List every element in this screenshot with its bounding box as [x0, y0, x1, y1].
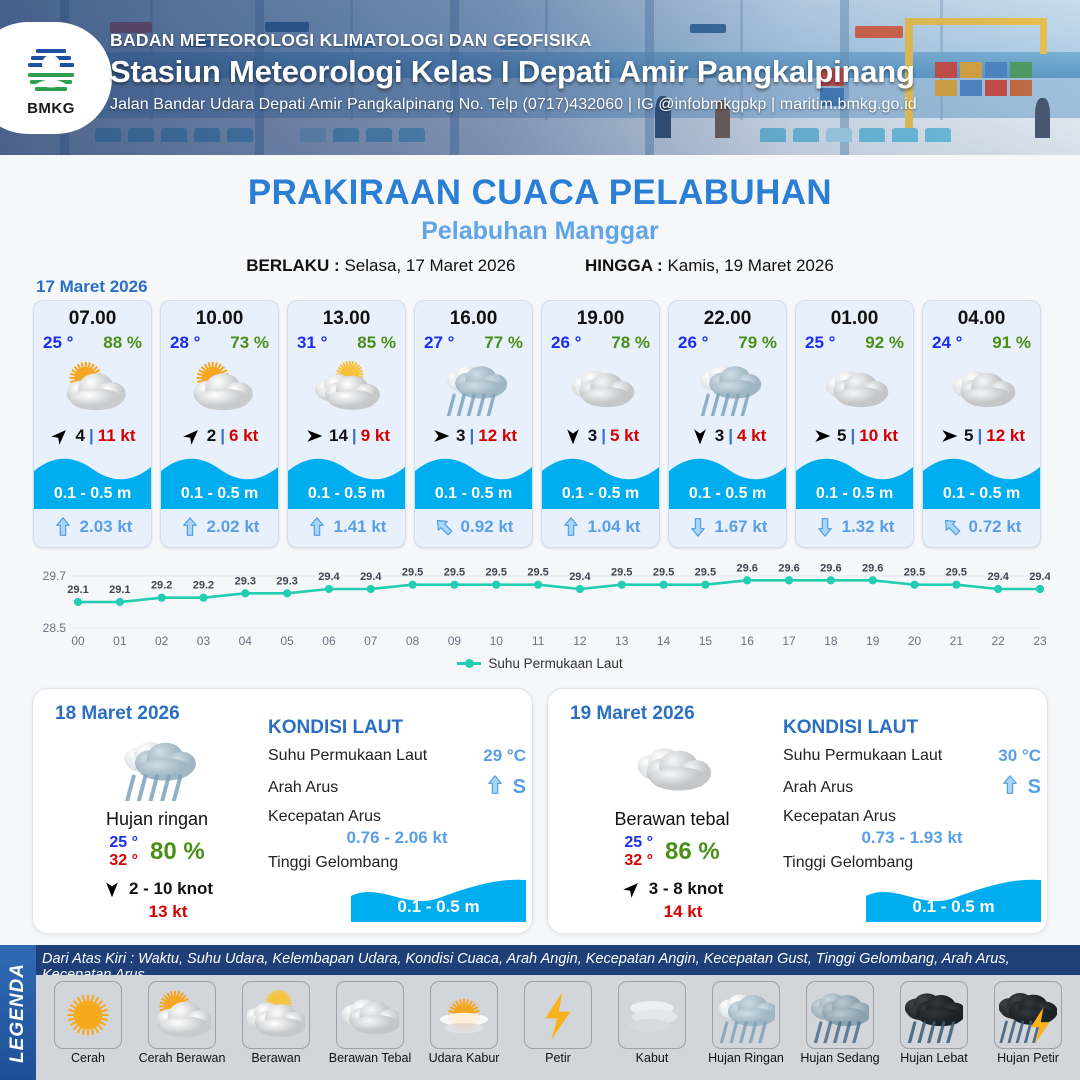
weather-hujan-ringan-icon: [415, 356, 532, 418]
card-time: 01.00: [796, 308, 913, 330]
wind-direction-icon: [811, 426, 833, 446]
svg-text:12: 12: [573, 634, 587, 648]
svg-text:23: 23: [1033, 634, 1047, 648]
wind-speed: 14: [329, 426, 348, 446]
current-direction-icon: [1000, 773, 1020, 802]
card-time: 10.00: [161, 308, 278, 330]
wave-height-band: 0.1 - 0.5 m: [415, 451, 532, 509]
wave-height-value: 0.1 - 0.5 m: [669, 485, 786, 503]
hourly-card: 01.00 25 ° 92 % 5 | 10 kt 0.1 - 0.5 m: [795, 300, 914, 548]
svg-text:29.3: 29.3: [276, 575, 297, 587]
card-current: 2.02 kt: [161, 511, 278, 543]
card-temp-humidity: 31 ° 85 %: [288, 330, 405, 353]
title-block: PRAKIRAAN CUACA PELABUHAN Pelabuhan Mang…: [0, 173, 1080, 276]
card-temperature: 25 °: [805, 333, 835, 353]
legend-item: Kabut: [608, 981, 696, 1065]
current-speed: 2.03 kt: [80, 517, 133, 537]
card-wind: 3 | 5 kt: [542, 424, 659, 448]
current-dir-label: Arah Arus: [783, 779, 853, 797]
svg-text:29.5: 29.5: [486, 567, 507, 579]
wind-separator: |: [977, 426, 982, 446]
wave-height-band: 0.1 - 0.5 m: [34, 451, 151, 509]
card-current: 1.67 kt: [669, 511, 786, 543]
svg-text:29.7: 29.7: [43, 569, 67, 583]
berlaku-value: Selasa, 17 Maret 2026: [344, 256, 515, 275]
hourly-card: 16.00 27 ° 77 % 3 | 12 kt 0.1 - 0.5 m: [414, 300, 533, 548]
svg-text:09: 09: [448, 634, 462, 648]
current-direction-icon: [307, 515, 327, 539]
svg-text:29.4: 29.4: [318, 571, 340, 583]
panel-summary: Berawan tebal 25 ° 32 ° 86 % 3 - 8 knot …: [562, 731, 782, 922]
wave-height-value: 0.1 - 0.5 m: [796, 485, 913, 503]
station-name: Stasiun Meteorologi Kelas I Depati Amir …: [110, 54, 1050, 90]
card-humidity: 73 %: [230, 333, 269, 353]
svg-text:08: 08: [406, 634, 420, 648]
wind-separator: |: [850, 426, 855, 446]
svg-text:29.6: 29.6: [737, 562, 758, 574]
svg-text:02: 02: [155, 634, 169, 648]
svg-text:07: 07: [364, 634, 378, 648]
svg-text:29.1: 29.1: [67, 584, 88, 596]
weather-berawan-icon: [562, 731, 782, 803]
legend-item-label: Kabut: [608, 1051, 696, 1065]
weather-berawan-icon: [923, 356, 1040, 418]
sst-chart-section: 29.728.529.129.129.229.229.329.329.429.4…: [30, 558, 1050, 683]
panel-temp-min: 25 °: [624, 834, 653, 852]
validity-range: BERLAKU : Selasa, 17 Maret 2026 HINGGA :…: [0, 256, 1080, 276]
wind-separator: |: [220, 426, 225, 446]
weather-udara-kabur-icon: [430, 981, 498, 1049]
card-humidity: 79 %: [738, 333, 777, 353]
hourly-card: 10.00 28 ° 73 % 2 | 6 kt 0.1 - 0.5 m 2.0…: [160, 300, 279, 548]
svg-text:29.5: 29.5: [402, 567, 423, 579]
panel-temp-max: 32 °: [624, 852, 653, 870]
wave-height-value: 0.1 - 0.5 m: [923, 485, 1040, 503]
legend-item: Hujan Ringan: [702, 981, 790, 1065]
legend-items-row: Cerah Cerah Berawan Berawan Berawan Teba…: [36, 975, 1080, 1080]
svg-text:29.5: 29.5: [444, 567, 465, 579]
wave-height-band: 0.1 - 0.5 m: [351, 876, 526, 922]
weather-hujan-ringan-icon: [47, 731, 267, 803]
card-wind: 2 | 6 kt: [161, 424, 278, 448]
card-wind: 4 | 11 kt: [34, 424, 151, 448]
wind-direction-icon: [562, 426, 584, 446]
current-speed: 0.92 kt: [461, 517, 514, 537]
current-dir-value-group: S: [485, 773, 526, 802]
daily-forecast-panel: 18 Maret 2026 Hujan ringan 25 ° 32 ° 80 …: [32, 688, 533, 934]
svg-text:20: 20: [908, 634, 922, 648]
wind-direction-icon: [49, 426, 71, 446]
svg-text:16: 16: [741, 634, 755, 648]
legend-item-label: Petir: [514, 1051, 602, 1065]
wind-direction-icon: [621, 879, 643, 899]
sst-row: Suhu Permukaan Laut 29 °C: [268, 746, 526, 766]
svg-text:06: 06: [322, 634, 336, 648]
weather-berawan-icon: [336, 981, 404, 1049]
svg-text:29.5: 29.5: [611, 567, 632, 579]
current-speed: 2.02 kt: [207, 517, 260, 537]
panel-wind: 2 - 10 knot: [47, 879, 267, 899]
weather-petir-icon: [524, 981, 592, 1049]
svg-text:05: 05: [280, 634, 294, 648]
wind-separator: |: [89, 426, 94, 446]
legend-item-label: Udara Kabur: [420, 1051, 508, 1065]
legend-section: LEGENDA Dari Atas Kiri : Waktu, Suhu Uda…: [0, 945, 1080, 1080]
hingga-label: HINGGA :: [585, 256, 663, 275]
legend-item: Hujan Lebat: [890, 981, 978, 1065]
svg-text:29.4: 29.4: [569, 571, 591, 583]
panel-wind-range: 3 - 8 knot: [649, 879, 724, 899]
gust-speed: 4 kt: [737, 426, 766, 446]
svg-text:29.5: 29.5: [904, 567, 925, 579]
current-direction-icon: [561, 515, 581, 539]
svg-text:18: 18: [824, 634, 838, 648]
panel-wind-range: 2 - 10 knot: [129, 879, 213, 899]
legend-item-label: Hujan Ringan: [702, 1051, 790, 1065]
svg-text:15: 15: [699, 634, 713, 648]
svg-text:11: 11: [532, 634, 545, 648]
weather-hujan-petir-icon: [994, 981, 1062, 1049]
gust-speed: 6 kt: [229, 426, 258, 446]
current-direction-icon: [434, 515, 454, 539]
svg-text:17: 17: [782, 634, 796, 648]
current-speed-label: Kecepatan Arus: [268, 808, 526, 826]
legend-item: Petir: [514, 981, 602, 1065]
card-wind: 5 | 12 kt: [923, 424, 1040, 448]
card-humidity: 92 %: [865, 333, 904, 353]
card-time: 16.00: [415, 308, 532, 330]
legend-item-label: Berawan Tebal: [326, 1051, 414, 1065]
weather-hujan-ringan-icon: [712, 981, 780, 1049]
agency-name: BADAN METEOROLOGI KLIMATOLOGI DAN GEOFIS…: [110, 30, 1050, 51]
legend-item: Udara Kabur: [420, 981, 508, 1065]
hourly-card: 19.00 26 ° 78 % 3 | 5 kt 0.1 - 0.5 m: [541, 300, 660, 548]
berlaku-label: BERLAKU :: [246, 256, 340, 275]
sst-label: Suhu Permukaan Laut: [783, 747, 942, 765]
svg-text:29.6: 29.6: [862, 562, 883, 574]
wind-separator: |: [469, 426, 474, 446]
current-dir-value-group: S: [1000, 773, 1041, 802]
current-direction-icon: [942, 515, 962, 539]
wave-height-value: 0.1 - 0.5 m: [866, 897, 1041, 917]
card-temperature: 28 °: [170, 333, 200, 353]
svg-text:29.4: 29.4: [987, 571, 1009, 583]
weather-berawan-icon: [796, 356, 913, 418]
card-time: 22.00: [669, 308, 786, 330]
legend-item-label: Hujan Sedang: [796, 1051, 884, 1065]
page-title: PRAKIRAAN CUACA PELABUHAN: [0, 173, 1080, 213]
svg-text:29.6: 29.6: [778, 562, 799, 574]
hourly-date-label: 17 Maret 2026: [36, 277, 148, 297]
hourly-card: 07.00 25 ° 88 % 4 | 11 kt 0.1 - 0.5 m 2.…: [33, 300, 152, 548]
current-direction-icon: [53, 515, 73, 539]
panel-humidity: 80 %: [150, 838, 205, 866]
svg-text:19: 19: [866, 634, 880, 648]
bmkg-logo-icon: [22, 40, 80, 98]
panel-temp-max: 32 °: [109, 852, 138, 870]
page-header: BMKG BADAN METEOROLOGI KLIMATOLOGI DAN G…: [0, 0, 1080, 155]
weather-hujan-sedang-icon: [806, 981, 874, 1049]
gust-speed: 12 kt: [986, 426, 1025, 446]
gust-speed: 11 kt: [98, 426, 136, 446]
wave-height-value: 0.1 - 0.5 m: [288, 485, 405, 503]
wave-label: Tinggi Gelombang: [783, 854, 1041, 872]
wind-direction-icon: [181, 426, 203, 446]
svg-text:29.5: 29.5: [653, 567, 674, 579]
wind-speed: 3: [456, 426, 465, 446]
gust-speed: 12 kt: [478, 426, 517, 446]
hingga-value: Kamis, 19 Maret 2026: [667, 256, 833, 275]
card-humidity: 88 %: [103, 333, 142, 353]
weather-hujan-lebat-icon: [900, 981, 968, 1049]
chart-legend-label: Suhu Permukaan Laut: [488, 656, 622, 671]
current-dir-row: Arah Arus S: [783, 773, 1041, 802]
gust-speed: 10 kt: [859, 426, 898, 446]
svg-text:29.5: 29.5: [946, 567, 967, 579]
card-temperature: 27 °: [424, 333, 454, 353]
wave-height-band: 0.1 - 0.5 m: [796, 451, 913, 509]
wind-direction-icon: [689, 426, 711, 446]
svg-text:10: 10: [490, 634, 504, 648]
svg-text:22: 22: [991, 634, 1005, 648]
card-temp-humidity: 25 ° 92 %: [796, 330, 913, 353]
wind-speed: 5: [964, 426, 973, 446]
card-temp-humidity: 26 ° 78 %: [542, 330, 659, 353]
card-temp-humidity: 28 ° 73 %: [161, 330, 278, 353]
card-temperature: 24 °: [932, 333, 962, 353]
card-time: 04.00: [923, 308, 1040, 330]
wind-separator: |: [352, 426, 357, 446]
wave-height-band: 0.1 - 0.5 m: [923, 451, 1040, 509]
legend-side-label: LEGENDA: [7, 963, 29, 1063]
card-temp-humidity: 25 ° 88 %: [34, 330, 151, 353]
card-wind: 14 | 9 kt: [288, 424, 405, 448]
svg-text:01: 01: [113, 634, 127, 648]
wave-height-value: 0.1 - 0.5 m: [542, 485, 659, 503]
card-time: 07.00: [34, 308, 151, 330]
card-wind: 3 | 12 kt: [415, 424, 532, 448]
current-speed-value: 0.76 - 2.06 kt: [268, 828, 526, 848]
card-current: 1.41 kt: [288, 511, 405, 543]
sst-value: 30 °C: [998, 746, 1041, 766]
weather-cerah-berawan-icon: [148, 981, 216, 1049]
current-dir-row: Arah Arus S: [268, 773, 526, 802]
card-time: 13.00: [288, 308, 405, 330]
current-direction-icon: [815, 515, 835, 539]
hourly-card: 13.00 31 ° 85 % 14 | 9 kt 0.1 - 0.5 m: [287, 300, 406, 548]
current-dir-value: S: [1028, 776, 1041, 799]
panel-gust: 14 kt: [584, 902, 782, 922]
sea-section-title: KONDISI LAUT: [783, 717, 1041, 739]
card-temp-humidity: 27 ° 77 %: [415, 330, 532, 353]
sst-label: Suhu Permukaan Laut: [268, 747, 427, 765]
legend-item-label: Hujan Lebat: [890, 1051, 978, 1065]
panel-summary: Hujan ringan 25 ° 32 ° 80 % 2 - 10 knot …: [47, 731, 267, 922]
sst-row: Suhu Permukaan Laut 30 °C: [783, 746, 1041, 766]
card-current: 0.92 kt: [415, 511, 532, 543]
weather-cerah-icon: [54, 981, 122, 1049]
current-speed-label: Kecepatan Arus: [783, 808, 1041, 826]
svg-text:21: 21: [950, 634, 964, 648]
current-dir-value: S: [513, 776, 526, 799]
card-wind: 5 | 10 kt: [796, 424, 913, 448]
weather-berawan-icon: [542, 356, 659, 418]
wave-height-value: 0.1 - 0.5 m: [34, 485, 151, 503]
header-text-block: BADAN METEOROLOGI KLIMATOLOGI DAN GEOFIS…: [110, 30, 1050, 114]
current-speed: 1.67 kt: [715, 517, 768, 537]
card-temp-humidity: 26 ° 79 %: [669, 330, 786, 353]
daily-forecast-panel: 19 Maret 2026 Berawan tebal 25 ° 32 ° 86…: [547, 688, 1048, 934]
hourly-card: 04.00 24 ° 91 % 5 | 12 kt 0.1 - 0.5 m: [922, 300, 1041, 548]
legend-item-label: Cerah: [44, 1051, 132, 1065]
panel-condition: Hujan ringan: [47, 809, 267, 830]
legend-item: Hujan Sedang: [796, 981, 884, 1065]
wind-speed: 3: [588, 426, 597, 446]
hourly-card: 22.00 26 ° 79 % 3 | 4 kt 0.1 - 0.5 m: [668, 300, 787, 548]
legend-line-icon: [457, 662, 481, 665]
svg-text:29.1: 29.1: [109, 584, 130, 596]
card-temperature: 26 °: [551, 333, 581, 353]
sst-value: 29 °C: [483, 746, 526, 766]
wave-height-value: 0.1 - 0.5 m: [415, 485, 532, 503]
sea-section-title: KONDISI LAUT: [268, 717, 526, 739]
current-speed: 1.04 kt: [588, 517, 641, 537]
svg-text:29.2: 29.2: [193, 580, 214, 592]
svg-text:29.6: 29.6: [820, 562, 841, 574]
wind-direction-icon: [430, 426, 452, 446]
svg-text:04: 04: [239, 634, 253, 648]
legend-item: Berawan Tebal: [326, 981, 414, 1065]
wave-label: Tinggi Gelombang: [268, 854, 526, 872]
svg-text:29.4: 29.4: [1029, 571, 1050, 583]
bmkg-logo: BMKG: [0, 22, 112, 134]
wind-speed: 5: [837, 426, 846, 446]
station-contact: Jalan Bandar Udara Depati Amir Pangkalpi…: [110, 96, 1050, 114]
current-speed: 1.32 kt: [842, 517, 895, 537]
wave-height-band: 0.1 - 0.5 m: [866, 876, 1041, 922]
wave-height-value: 0.1 - 0.5 m: [351, 897, 526, 917]
gust-speed: 9 kt: [361, 426, 390, 446]
legend-item: Hujan Petir: [984, 981, 1072, 1065]
wind-direction-icon: [303, 426, 325, 446]
panel-humidity: 86 %: [665, 838, 720, 866]
wave-height-value: 0.1 - 0.5 m: [161, 485, 278, 503]
wave-height-band: 0.1 - 0.5 m: [669, 451, 786, 509]
wind-separator: |: [728, 426, 733, 446]
current-speed: 1.41 kt: [334, 517, 387, 537]
current-direction-icon: [485, 773, 505, 802]
legend-item: Cerah Berawan: [138, 981, 226, 1065]
panel-wind: 3 - 8 knot: [562, 879, 782, 899]
wind-speed: 3: [715, 426, 724, 446]
bmkg-logo-label: BMKG: [27, 100, 75, 117]
card-current: 2.03 kt: [34, 511, 151, 543]
svg-text:13: 13: [615, 634, 629, 648]
legend-side-tab: LEGENDA: [0, 945, 36, 1080]
panel-temps: 25 ° 32 ° 80 %: [47, 834, 267, 871]
wind-separator: |: [601, 426, 606, 446]
card-current: 0.72 kt: [923, 511, 1040, 543]
chart-legend: Suhu Permukaan Laut: [30, 656, 1050, 671]
card-current: 1.32 kt: [796, 511, 913, 543]
legend-item-label: Cerah Berawan: [138, 1051, 226, 1065]
weather-berawan-cerah-icon: [288, 356, 405, 418]
card-temperature: 25 °: [43, 333, 73, 353]
panel-temps: 25 ° 32 ° 86 %: [562, 834, 782, 871]
sst-line-chart: 29.728.529.129.129.229.229.329.329.429.4…: [30, 558, 1050, 653]
weather-hujan-ringan-icon: [669, 356, 786, 418]
wave-height-band: 0.1 - 0.5 m: [542, 451, 659, 509]
panel-sea-conditions: KONDISI LAUT Suhu Permukaan Laut 29 °C A…: [268, 717, 526, 922]
card-humidity: 77 %: [484, 333, 523, 353]
legend-item: Berawan: [232, 981, 320, 1065]
panel-temp-min: 25 °: [109, 834, 138, 852]
svg-text:00: 00: [71, 634, 85, 648]
legend-item-label: Berawan: [232, 1051, 320, 1065]
current-dir-label: Arah Arus: [268, 779, 338, 797]
svg-text:29.5: 29.5: [527, 567, 548, 579]
current-direction-icon: [180, 515, 200, 539]
wave-height-band: 0.1 - 0.5 m: [161, 451, 278, 509]
panel-date: 19 Maret 2026: [570, 703, 695, 725]
gust-speed: 5 kt: [610, 426, 639, 446]
card-humidity: 85 %: [357, 333, 396, 353]
panel-condition: Berawan tebal: [562, 809, 782, 830]
wind-speed: 4: [75, 426, 84, 446]
card-wind: 3 | 4 kt: [669, 424, 786, 448]
svg-text:14: 14: [657, 634, 671, 648]
svg-text:28.5: 28.5: [43, 621, 67, 635]
current-speed: 0.72 kt: [969, 517, 1022, 537]
card-humidity: 91 %: [992, 333, 1031, 353]
wave-height-band: 0.1 - 0.5 m: [288, 451, 405, 509]
page-subtitle: Pelabuhan Manggar: [0, 217, 1080, 246]
card-temperature: 26 °: [678, 333, 708, 353]
daily-forecast-panels: 18 Maret 2026 Hujan ringan 25 ° 32 ° 80 …: [32, 688, 1048, 934]
panel-sea-conditions: KONDISI LAUT Suhu Permukaan Laut 30 °C A…: [783, 717, 1041, 922]
svg-text:03: 03: [197, 634, 211, 648]
weather-berawan-cerah-icon: [242, 981, 310, 1049]
svg-text:29.2: 29.2: [151, 580, 172, 592]
current-speed-value: 0.73 - 1.93 kt: [783, 828, 1041, 848]
wind-direction-icon: [938, 426, 960, 446]
weather-cerah-berawan-icon: [161, 356, 278, 418]
legend-item-label: Hujan Petir: [984, 1051, 1072, 1065]
svg-text:29.4: 29.4: [360, 571, 382, 583]
card-current: 1.04 kt: [542, 511, 659, 543]
card-humidity: 78 %: [611, 333, 650, 353]
wind-direction-icon: [101, 879, 123, 899]
card-temperature: 31 °: [297, 333, 327, 353]
weather-kabut-icon: [618, 981, 686, 1049]
infographic-page: BMKG BADAN METEOROLOGI KLIMATOLOGI DAN G…: [0, 0, 1080, 1080]
wind-speed: 2: [207, 426, 216, 446]
legend-item: Cerah: [44, 981, 132, 1065]
current-direction-icon: [688, 515, 708, 539]
svg-text:29.5: 29.5: [695, 567, 716, 579]
panel-date: 18 Maret 2026: [55, 703, 180, 725]
panel-gust: 13 kt: [69, 902, 267, 922]
card-temp-humidity: 24 ° 91 %: [923, 330, 1040, 353]
svg-text:29.3: 29.3: [235, 575, 256, 587]
hourly-forecast-row: 07.00 25 ° 88 % 4 | 11 kt 0.1 - 0.5 m 2.…: [33, 300, 1047, 548]
card-time: 19.00: [542, 308, 659, 330]
weather-cerah-berawan-icon: [34, 356, 151, 418]
